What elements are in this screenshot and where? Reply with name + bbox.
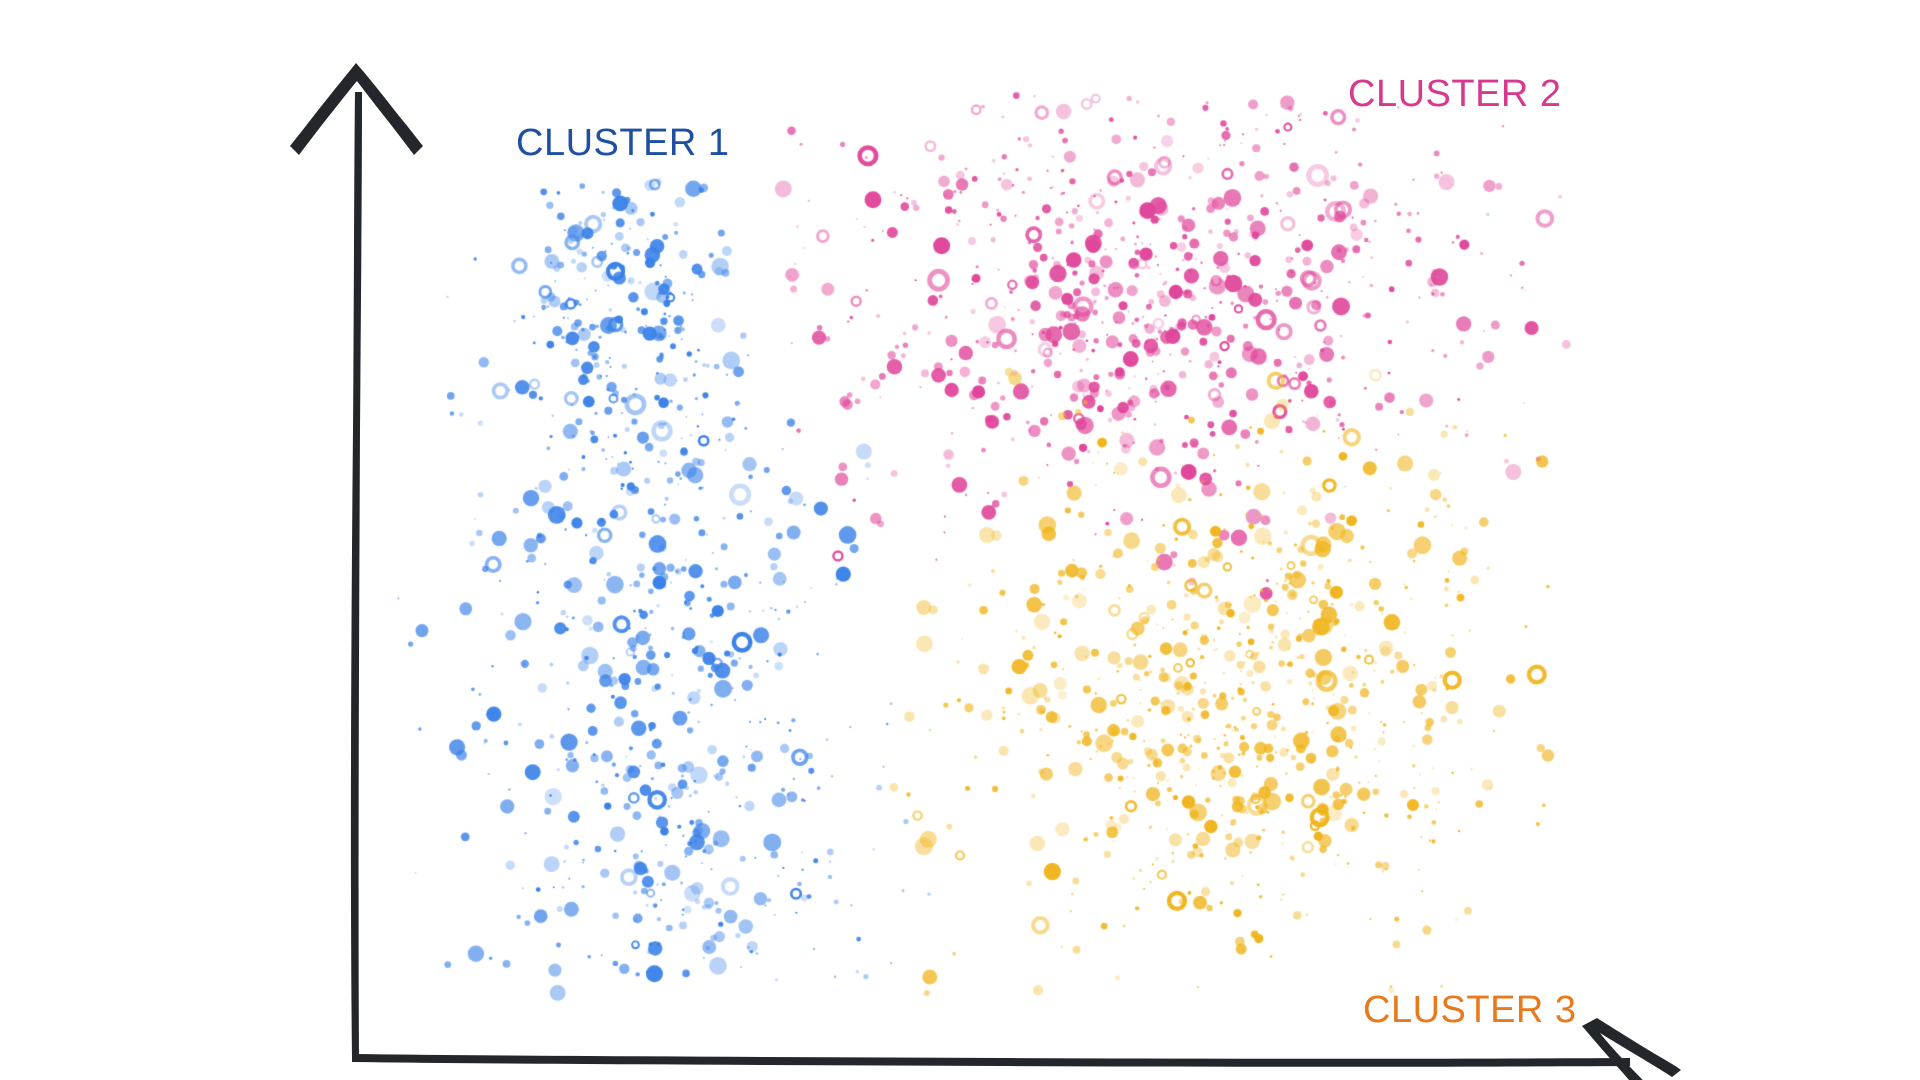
cluster-label-1: CLUSTER 1 xyxy=(516,124,730,162)
scatter-point-cloud xyxy=(0,0,1920,1080)
cluster-label-2: CLUSTER 2 xyxy=(1348,75,1562,113)
plot-area xyxy=(0,0,1920,1080)
scatter-plot-figure: CLUSTER 1 CLUSTER 2 CLUSTER 3 xyxy=(0,0,1920,1080)
cluster-label-3: CLUSTER 3 xyxy=(1363,991,1577,1029)
